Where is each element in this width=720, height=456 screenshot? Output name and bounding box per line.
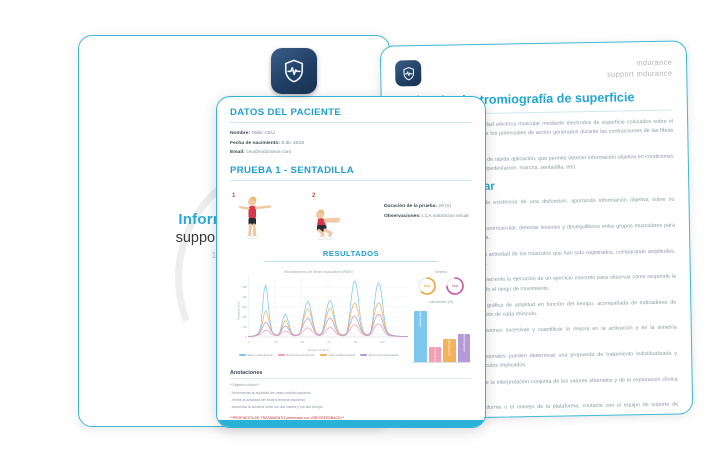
legend-swatch: [360, 354, 367, 355]
athlete-squat-svg: [298, 193, 360, 240]
x-axis-ticks: 020406080100: [249, 340, 405, 346]
brand-text: mdurance support mdurance: [607, 58, 673, 81]
field-value: Taller CEU: [251, 131, 274, 136]
plot-area: Amplitud (µV) 0100200300400500 020406080…: [230, 275, 407, 347]
chart-legend: Vasto medial derechoBíceps femoral derec…: [230, 354, 407, 357]
annotation-line: - Inhibir la actividad del bíceps femora…: [230, 397, 472, 403]
section-title-test: PRUEBA 1 - SENTADILLA: [230, 165, 472, 176]
bar: Bíceps femoral izquierdo: [458, 334, 471, 362]
bar-label: Vasto medial derecho: [419, 302, 422, 327]
divider: [230, 122, 472, 123]
legend-label: Bíceps femoral derecho: [286, 354, 314, 357]
exercise-illustrations: 1: [230, 193, 370, 240]
y-axis-ticks: 0100200300400500: [236, 275, 247, 339]
pose-squat-figure: 2: [298, 193, 370, 240]
field-value: ceu@mdurance.com: [246, 150, 291, 155]
intervention-bar-chart: Vasto medial derechoBíceps femoral derec…: [410, 307, 472, 363]
field-label: Fecha de nacimiento:: [230, 141, 280, 146]
legend-item: Bíceps femoral izquierdo: [360, 354, 398, 357]
y-tick-label: 400: [242, 295, 247, 299]
pose-number: 2: [312, 193, 315, 199]
brand-support: support mdurance: [607, 68, 672, 80]
legend-swatch: [320, 354, 327, 355]
meta-label: Observaciones:: [384, 214, 421, 219]
x-tick-label: 40: [301, 340, 304, 344]
x-tick-label: 80: [354, 340, 357, 344]
emg-series-svg: [248, 275, 408, 341]
screenshot-stage: Informe Sesión support mdurance 14 ene 2…: [0, 0, 720, 456]
section-title-patient: DATOS DEL PACIENTE: [230, 107, 472, 118]
results-title: RESULTADOS: [230, 249, 472, 258]
chart-title: Reclutamiento de fibras musculares (RMS): [230, 270, 407, 274]
symmetry-gauges: 62%74%: [410, 276, 472, 296]
annotation-line: **Objetivo clínico**: [230, 382, 472, 388]
bar-label: Bíceps femoral izquierdo: [462, 324, 465, 353]
field-value: 8 dic 2018: [281, 141, 304, 146]
symmetry-panel: Simetría 62%74% Intervención (%) Vasto m…: [407, 270, 472, 363]
legend-label: Vasto medial derecho: [247, 354, 273, 357]
x-tick-label: 100: [380, 340, 385, 344]
legend-item: Vasto medial izquierdo: [320, 354, 356, 357]
meta-row: Observaciones: LCA valoracion inicial: [384, 212, 469, 222]
symmetry-gauge: 74%: [445, 276, 465, 296]
annotation-line: - Aumentar la simetría entre los dos vas…: [230, 404, 472, 410]
shield-pulse-icon: [271, 48, 317, 94]
y-tick-label: 100: [242, 325, 247, 329]
symmetry-gauge: 62%: [417, 276, 437, 296]
legend-item: Bíceps femoral derecho: [278, 354, 315, 357]
divider: [264, 261, 438, 262]
x-axis-label: Tiempo (0-29 s): [230, 348, 407, 352]
card-footer-bar: [217, 420, 485, 427]
athlete-standing-svg: [230, 193, 290, 240]
divider: [230, 180, 472, 181]
y-tick-label: 0: [245, 335, 247, 339]
x-tick-label: 60: [327, 340, 330, 344]
annotation-line: - Incrementar la actividad del vasto med…: [230, 390, 472, 396]
divider: [230, 378, 472, 379]
field-row: Nombre: Taller CEU: [230, 129, 472, 139]
emg-line-chart: Reclutamiento de fibras musculares (RMS)…: [230, 270, 407, 363]
bar: Bíceps femoral derecho: [429, 347, 442, 363]
bar-label: Vasto medial izquierdo: [448, 329, 451, 355]
legend-item: Vasto medial derecho: [239, 354, 273, 357]
meta-value: 29 (s): [438, 204, 451, 209]
shield-pulse-icon: [395, 60, 421, 86]
legend-label: Vasto medial izquierdo: [328, 354, 355, 357]
y-tick-label: 300: [242, 305, 247, 309]
legend-label: Bíceps femoral izquierdo: [369, 354, 399, 357]
legend-swatch: [278, 354, 285, 355]
bar-label: Bíceps femoral derecho: [433, 337, 436, 364]
field-row: Email: ceu@mdurance.com: [230, 148, 472, 158]
test-meta: Duración de la prueba: 29 (s) Observacio…: [384, 194, 469, 240]
bar: Vasto medial izquierdo: [443, 339, 456, 363]
annotations-heading: Anotaciones: [230, 370, 472, 376]
symmetry-label: Simetría: [410, 270, 472, 274]
pose-standing-figure: 1: [230, 193, 302, 240]
gauge-value: 62%: [417, 276, 437, 296]
meta-value: LCA valoracion inicial: [422, 214, 469, 219]
field-label: Email:: [230, 150, 245, 155]
meta-row: Duración de la prueba: 29 (s): [384, 202, 469, 212]
x-tick-label: 0: [248, 340, 250, 344]
y-tick-label: 200: [242, 315, 247, 319]
meta-label: Duración de la prueba:: [384, 204, 437, 209]
field-row: Fecha de nacimiento: 8 dic 2018: [230, 139, 472, 149]
gauge-value: 74%: [445, 276, 465, 296]
x-tick-label: 20: [274, 340, 277, 344]
patient-report-card[interactable]: DATOS DEL PACIENTE Nombre: Taller CEU Fe…: [216, 96, 486, 428]
bar-baseline: [412, 362, 470, 363]
patient-fields: Nombre: Taller CEU Fecha de nacimiento: …: [230, 129, 472, 158]
y-tick-label: 500: [242, 285, 247, 289]
results-charts: Reclutamiento de fibras musculares (RMS)…: [230, 270, 472, 363]
pose-number: 1: [232, 193, 235, 199]
report-content: DATOS DEL PACIENTE Nombre: Taller CEU Fe…: [230, 107, 472, 428]
field-label: Nombre:: [230, 131, 250, 136]
bar: Vasto medial derecho: [414, 311, 427, 363]
legend-swatch: [239, 354, 246, 355]
